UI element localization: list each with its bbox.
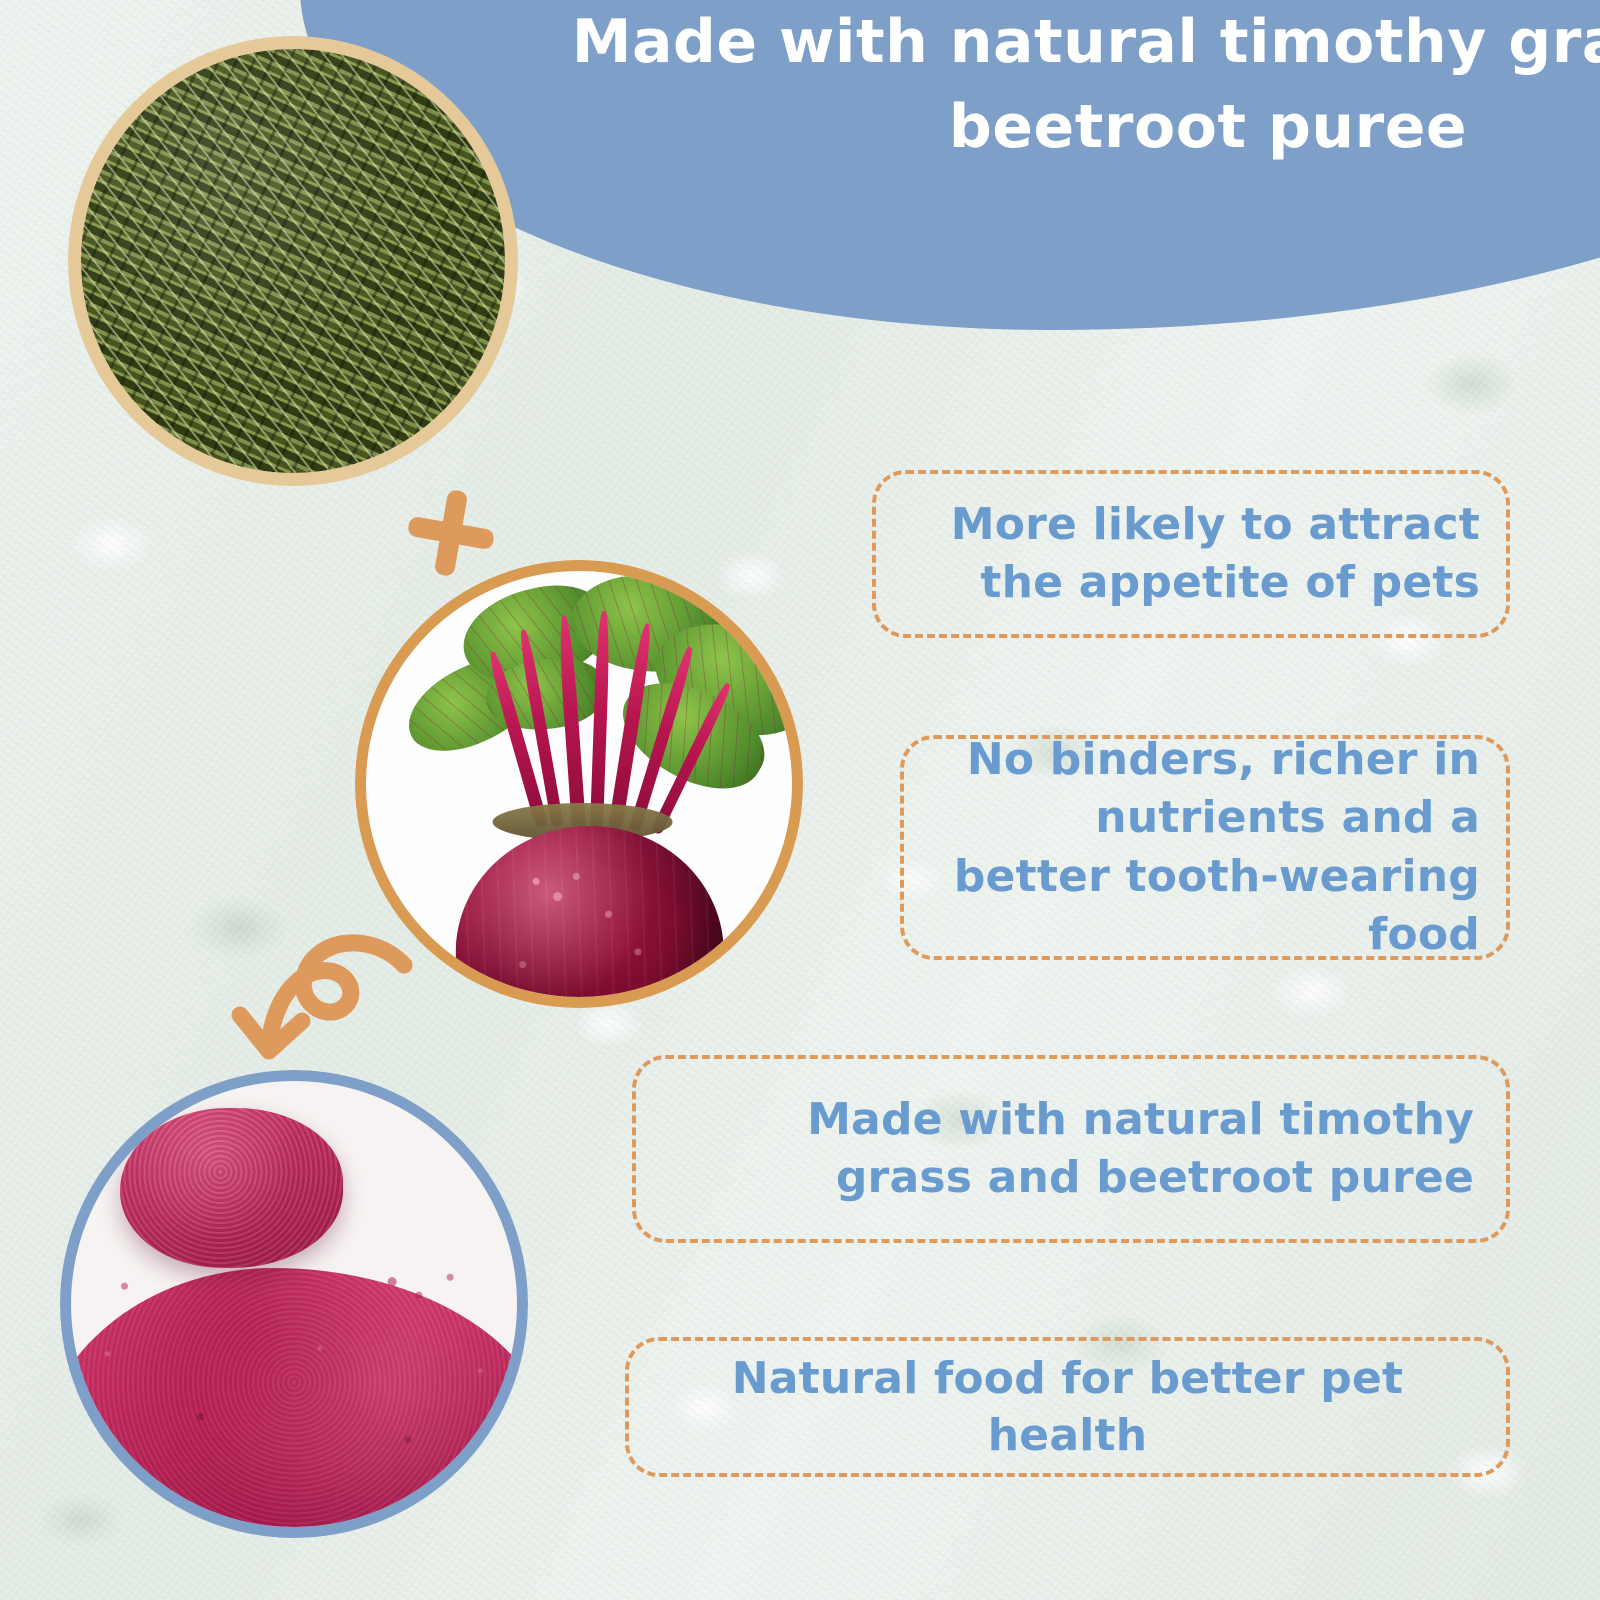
- feature-text-4: Natural food for better pet health: [655, 1350, 1480, 1464]
- feature-box-2: No binders, richer in nutrients and a be…: [900, 735, 1510, 960]
- feature-text-2: No binders, richer in nutrients and a be…: [930, 731, 1480, 963]
- beetroot-powder-medallion: [60, 1070, 528, 1538]
- timothy-grass-ring: [68, 36, 518, 486]
- beetroot-ring: [355, 560, 803, 1008]
- curved-arrow-icon: [222, 925, 422, 1075]
- page-title: Made with natural timothy grass and beet…: [548, 0, 1600, 170]
- beetroot-powder-ring: [60, 1070, 528, 1538]
- feature-text-3: Made with natural timothy grass and beet…: [662, 1091, 1480, 1207]
- infographic-canvas: Made with natural timothy grass and beet…: [0, 0, 1600, 1600]
- timothy-grass-medallion: [68, 36, 518, 486]
- feature-box-3: Made with natural timothy grass and beet…: [632, 1055, 1510, 1243]
- plus-icon: [401, 483, 501, 583]
- feature-text-1: More likely to attract the appetite of p…: [902, 496, 1480, 612]
- feature-box-4: Natural food for better pet health: [625, 1337, 1510, 1477]
- beetroot-medallion: [355, 560, 803, 1008]
- feature-box-1: More likely to attract the appetite of p…: [872, 470, 1510, 638]
